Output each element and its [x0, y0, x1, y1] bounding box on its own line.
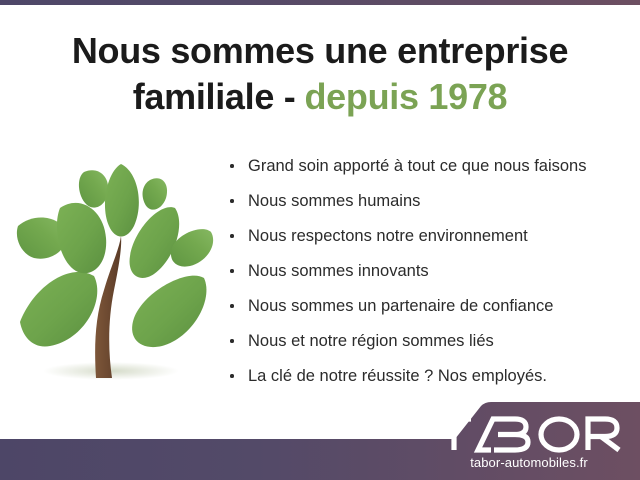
tree-leaf-top-small-left — [79, 170, 108, 207]
tree-leaf-lower-left — [20, 272, 97, 347]
list-item-label: La clé de notre réussite ? Nos employés. — [248, 367, 547, 385]
page-title: Nous sommes une entreprise familiale -de… — [0, 28, 640, 120]
list-item-label: Nous sommes un partenaire de confiance — [248, 297, 553, 315]
list-item-label: Grand soin apporté à tout ce que nous fa… — [248, 157, 586, 175]
list-item: Nous sommes innovants — [228, 257, 628, 292]
tree-leaf-upper-right — [130, 207, 180, 278]
brand-wordmark-tabor — [434, 414, 624, 454]
bullet-dot-icon — [230, 199, 234, 203]
slide-canvas: Nous sommes une entreprise familiale -de… — [0, 0, 640, 480]
list-item: Nous respectons notre environnement — [228, 222, 628, 257]
bullet-dot-icon — [230, 164, 234, 168]
value-list: Grand soin apporté à tout ce que nous fa… — [228, 152, 628, 397]
tree-illustration — [8, 150, 222, 390]
list-item-label: Nous sommes humains — [248, 192, 420, 210]
headline-line-2-black: familiale - — [133, 76, 296, 117]
tree-leaf-center-top — [105, 164, 139, 237]
list-item: Nous et notre région sommes liés — [228, 327, 628, 362]
list-item: Nous sommes un partenaire de confiance — [228, 292, 628, 327]
bullet-dot-icon — [230, 234, 234, 238]
brand-website-url[interactable]: tabor-automobiles.fr — [434, 455, 624, 470]
top-accent-strip — [0, 0, 640, 5]
list-item: Grand soin apporté à tout ce que nous fa… — [228, 152, 628, 187]
bullet-dot-icon — [230, 269, 234, 273]
list-item-label: Nous et notre région sommes liés — [248, 332, 494, 350]
list-item-label: Nous respectons notre environnement — [248, 227, 528, 245]
list-item: La clé de notre réussite ? Nos employés. — [228, 362, 628, 397]
tree-leaf-lower-right — [132, 276, 206, 347]
footer-bar: tabor-automobiles.fr — [0, 400, 640, 480]
tree-leaf-upper-left — [57, 203, 106, 273]
headline-accent-since-1978: depuis 1978 — [304, 76, 507, 117]
brand-logo[interactable]: tabor-automobiles.fr — [434, 414, 624, 470]
list-item: Nous sommes humains — [228, 187, 628, 222]
list-item-label: Nous sommes innovants — [248, 262, 429, 280]
tree-leaf-top-small-right — [143, 178, 168, 209]
bullet-dot-icon — [230, 304, 234, 308]
headline-line-2: familiale -depuis 1978 — [0, 74, 640, 120]
bullet-dot-icon — [230, 339, 234, 343]
headline-line-1: Nous sommes une entreprise — [0, 28, 640, 74]
bullet-dot-icon — [230, 374, 234, 378]
